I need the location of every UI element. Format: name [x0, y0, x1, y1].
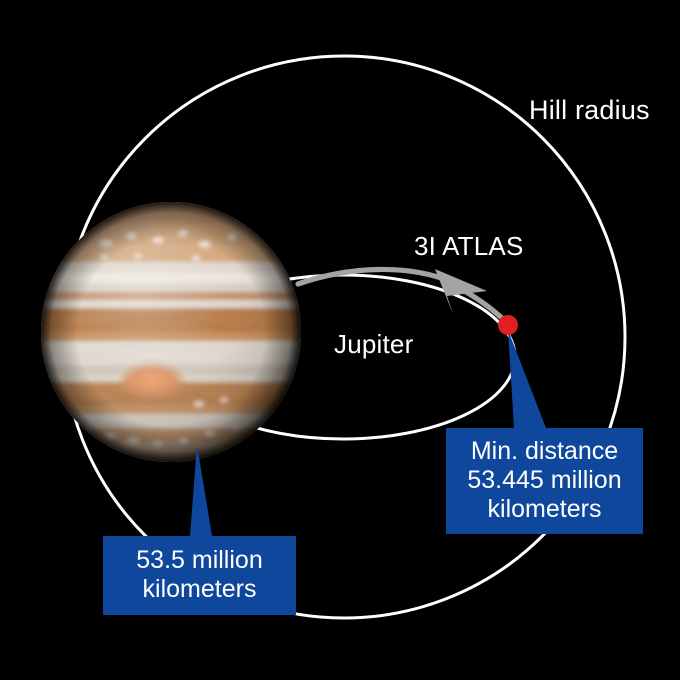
diagram-canvas: Hill radius 3I ATLAS Jupiter Min. distan…	[0, 0, 680, 680]
jupiter-planet	[35, 200, 310, 474]
hill-distance-line-2: kilometers	[111, 575, 288, 604]
min-distance-line-1: Min. distance	[454, 437, 635, 466]
min-distance-line-2: 53.445 million	[454, 466, 635, 495]
hill-distance-callout: 53.5 million kilometers	[103, 536, 296, 615]
hill-distance-line-1: 53.5 million	[111, 546, 288, 575]
min-distance-line-3: kilometers	[454, 495, 635, 524]
hill-radius-label: Hill radius	[529, 95, 650, 126]
closest-approach-dot	[498, 315, 518, 335]
atlas-object-label: 3I ATLAS	[414, 231, 524, 262]
atlas-trajectory-arrow	[298, 269, 506, 322]
jupiter-planet-label: Jupiter	[334, 329, 413, 360]
min-distance-callout: Min. distance 53.445 million kilometers	[446, 428, 643, 534]
